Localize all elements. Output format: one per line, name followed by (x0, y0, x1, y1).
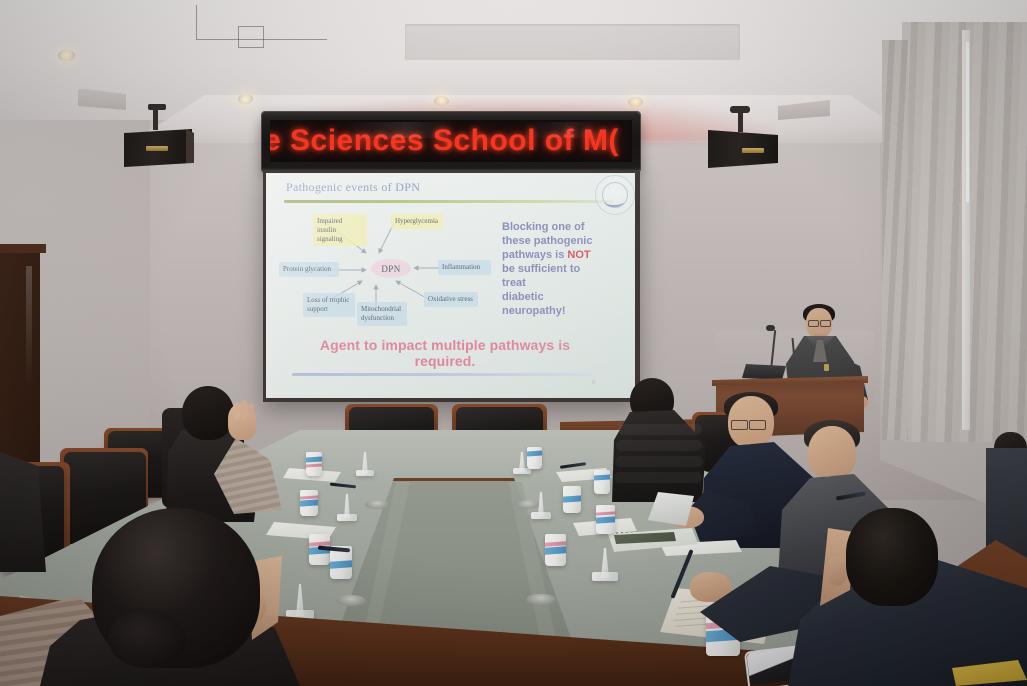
window-glass-highlight (966, 42, 969, 202)
attendee-grey-suit-head (808, 426, 856, 480)
callout-line-6: diabetic (502, 291, 544, 303)
led-marquee-text: e Sciences School of M( (270, 124, 619, 158)
slide-page-number: 8 (592, 380, 595, 386)
diagram-node-loss-of-trophic-support: Loss of trophic support (303, 293, 355, 317)
attendee-writing-ear (826, 556, 848, 586)
slide-title-underline (284, 200, 614, 203)
table-cable-grommet (526, 594, 556, 605)
callout-emphasis-not: NOT (567, 249, 590, 261)
attendee-finger (248, 403, 254, 421)
paper-cup (300, 490, 318, 516)
presenter-glasses-left-lens (808, 320, 819, 327)
door-frame-top (0, 244, 46, 253)
paper-cup (306, 452, 322, 476)
speaker-badge-left (146, 146, 168, 151)
name-card-holder-base (592, 572, 618, 581)
door-highlight (26, 266, 32, 386)
curtain-left-panel (882, 40, 908, 440)
speaker-mount-left (153, 108, 158, 130)
attendee-writing-head (846, 508, 938, 606)
diagram-node-mitochondrial-dysfunction: Mitochondrial dysfunction (357, 302, 407, 326)
name-card-holder-base (513, 468, 531, 474)
puffer-quilt-line (614, 472, 702, 483)
speaker-mount-right (738, 110, 743, 132)
callout-line-3: pathways is (502, 249, 567, 261)
callout-line-5: treat (502, 277, 526, 289)
diagram-node-dpn-center: DPN (371, 259, 411, 278)
paper-cup (596, 505, 615, 534)
slide-punchline: Agent to impact multiple pathways is req… (290, 337, 600, 369)
presenter-badge (824, 364, 829, 371)
downlight (58, 50, 75, 61)
table-cable-grommet (336, 595, 366, 606)
table-cable-grommet (516, 500, 540, 509)
presenter-laptop (742, 364, 786, 380)
callout-line-4: be sufficient to (502, 263, 580, 275)
callout-line-1: Blocking one of (502, 221, 585, 233)
wall-speaker-left-side (186, 129, 194, 167)
name-card-holder-base (356, 470, 374, 476)
slide-title: Pathogenic events of DPN (286, 180, 516, 195)
paper-cup (527, 447, 542, 469)
attendee-glasses-right-lens (749, 420, 766, 430)
name-card-holder-base (337, 514, 357, 521)
puffer-quilt-line (618, 424, 702, 435)
presenter-glasses-right-lens (820, 320, 831, 327)
attendee-finger (234, 402, 240, 420)
callout-line-7: neuropathy! (502, 305, 566, 317)
diagram-node-impaired-insulin-signaling: Impaired insulin signaling (313, 214, 367, 246)
callout-line-2: these pathogenic (502, 235, 592, 247)
paper-cup (594, 470, 610, 494)
slide-bottom-rule (292, 373, 592, 376)
puffer-quilt-line (615, 456, 703, 467)
puffer-quilt-line (616, 440, 702, 451)
attendee-striped-sweater-head (182, 386, 234, 440)
institution-logo-swoosh-icon (604, 196, 624, 207)
slide-callout-text: Blocking one of these pathogenic pathway… (502, 220, 614, 319)
table-cable-grommet (365, 500, 389, 509)
name-card-holder-base (531, 512, 551, 519)
conference-room-photo: e Sciences School of M( (0, 0, 1027, 686)
attendee-finger (241, 400, 247, 420)
ceiling-recessed-panel (405, 24, 740, 60)
diagram-node-hyperglycemia: Hyperglycemia (391, 214, 443, 229)
paper-cup (545, 534, 566, 566)
attendee-ponytail-hair-tie (108, 610, 186, 668)
ceiling-trim-square-left (238, 26, 264, 48)
diagram-node-oxidative-stress: Oxidative stress (424, 292, 478, 307)
diagram-node-protein-glycation: Protein glycation (279, 262, 339, 277)
attendee-glasses-left-lens (731, 420, 748, 430)
led-marquee-screen: e Sciences School of M( (270, 120, 632, 162)
downlight (238, 94, 253, 104)
diagram-node-inflammation: Inflammation (438, 260, 491, 275)
speaker-badge-right (742, 148, 764, 153)
paper-cup (563, 486, 581, 513)
